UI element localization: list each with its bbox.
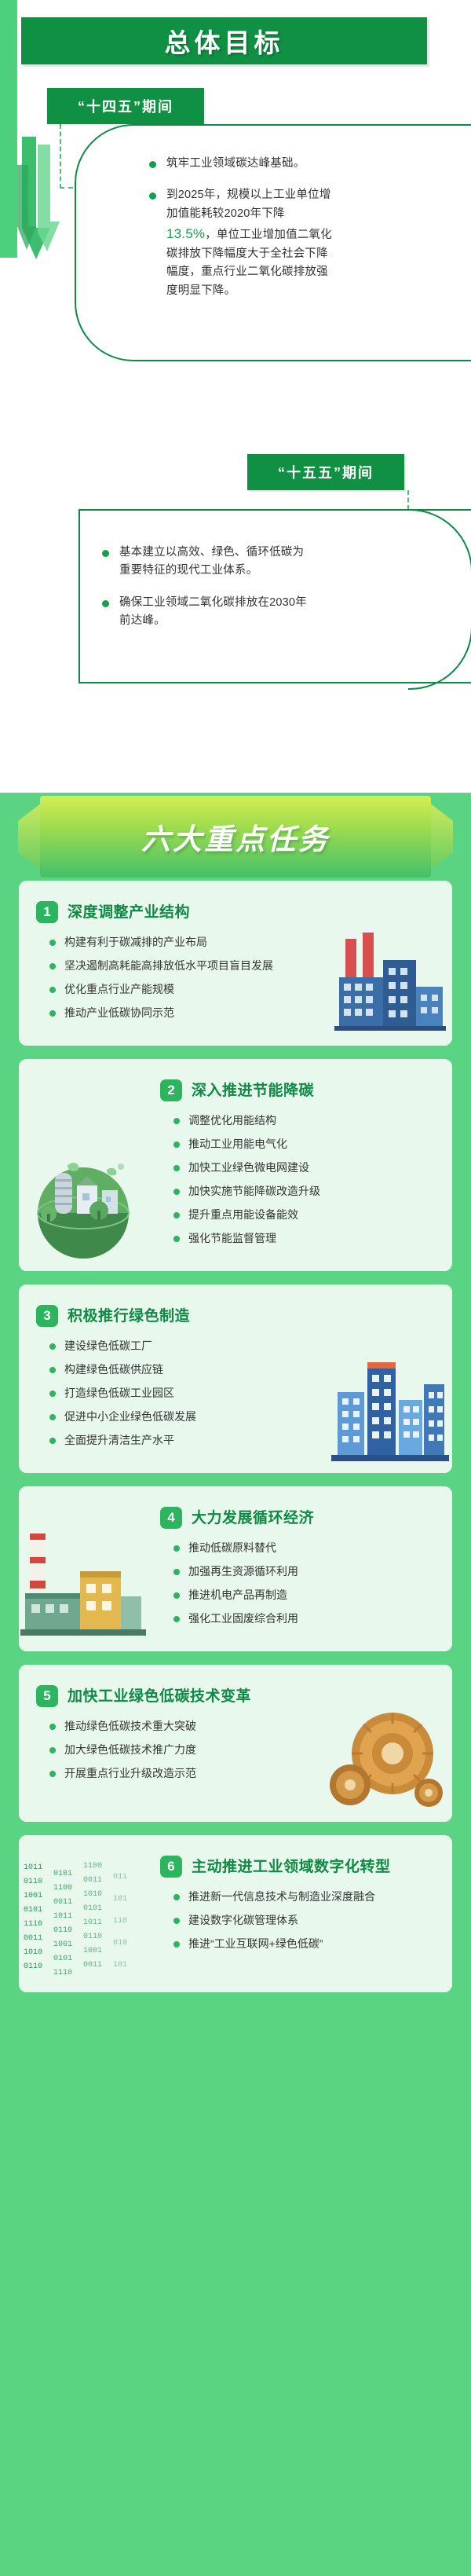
- svg-text:1110: 1110: [24, 1920, 42, 1929]
- task-bullet-item: 建设数字化碳管理体系: [173, 1912, 435, 1929]
- svg-text:1001: 1001: [53, 1940, 72, 1949]
- task-header: 3积极推行绿色制造: [36, 1305, 315, 1327]
- task-card-body: 3积极推行绿色制造建设绿色低碳工厂构建绿色低碳供应链打造绿色低碳工业园区促进中小…: [19, 1284, 452, 1473]
- goal-item: 基本建立以高效、绿色、循环低碳为重要特征的现代工业体系。: [102, 544, 314, 581]
- task-bullet-item: 打造绿色低碳工业园区: [49, 1385, 315, 1402]
- bullet-dot-icon: [49, 1391, 56, 1397]
- task-bullet-text: 调整优化用能结构: [188, 1112, 276, 1129]
- green-city-globe-icon: [20, 1138, 154, 1268]
- task-bullet-item: 推进新一代信息技术与制造业深度融合: [173, 1889, 435, 1905]
- svg-text:1011: 1011: [24, 1863, 42, 1872]
- task-bullet-item: 加快工业绿色微电网建设: [173, 1160, 435, 1176]
- svg-text:0011: 0011: [53, 1898, 72, 1907]
- goal-item: 到2025年，规模以上工业单位增加值能耗较2020年下降13.5%，单位工业增加…: [149, 186, 334, 300]
- section-overall-goals: 总体目标 “十四五”期间 筑牢工业领域碳达峰基础。: [0, 0, 471, 758]
- period-pill-label-2: “十五五”期间: [278, 462, 374, 482]
- task-bullet-text: 优化重点行业产能规模: [64, 981, 174, 998]
- overall-goals-title: 总体目标: [165, 22, 284, 60]
- task-bullet-item: 优化重点行业产能规模: [49, 981, 315, 998]
- task-bullet-item: 构建有利于碳减排的产业布局: [49, 934, 315, 951]
- svg-text:0011: 0011: [24, 1934, 42, 1943]
- bullet-dot-icon: [49, 963, 56, 969]
- task-title: 深入推进节能降碳: [192, 1079, 314, 1101]
- task-bullet-list: 调整优化用能结构推动工业用能电气化加快工业绿色微电网建设加快实施节能降碳改造升级…: [160, 1112, 435, 1247]
- goal-item-text: 筑牢工业领域碳达峰基础。: [166, 155, 305, 173]
- task-card[interactable]: 2深入推进节能降碳调整优化用能结构推动工业用能电气化加快工业绿色微电网建设加快实…: [19, 1059, 452, 1271]
- task-number-badge: 2: [160, 1079, 182, 1101]
- task-bullet-item: 强化节能监督管理: [173, 1230, 435, 1247]
- task-card[interactable]: 3积极推行绿色制造建设绿色低碳工厂构建绿色低碳供应链打造绿色低碳工业园区促进中小…: [19, 1284, 452, 1473]
- bullet-dot-icon: [173, 1165, 180, 1171]
- goal-item-text: 确保工业领域二氧化碳排放在2030年前达峰。: [119, 594, 314, 631]
- bullet-dot-icon: [102, 550, 109, 557]
- task-bullet-text: 全面提升清洁生产水平: [64, 1432, 174, 1449]
- svg-text:0101: 0101: [83, 1904, 102, 1913]
- period-pill-14th-five-year: “十四五”期间: [47, 88, 204, 124]
- task-bullet-item: 加大绿色低碳技术推广力度: [49, 1742, 315, 1758]
- bullet-dot-icon: [173, 1212, 180, 1218]
- bullet-dot-icon: [49, 940, 56, 946]
- bullet-dot-icon: [173, 1918, 180, 1924]
- task-bullet-text: 促进中小企业绿色低碳发展: [64, 1409, 196, 1425]
- task-bullet-item: 推动绿色低碳技术重大突破: [49, 1718, 315, 1735]
- task-card-body: 2深入推进节能降碳调整优化用能结构推动工业用能电气化加快工业绿色微电网建设加快实…: [19, 1059, 452, 1271]
- svg-text:101: 101: [113, 1895, 127, 1904]
- svg-text:0110: 0110: [24, 1878, 42, 1886]
- task-bullet-item: 提升重点用能设备能效: [173, 1207, 435, 1223]
- svg-text:1110: 1110: [53, 1969, 72, 1977]
- task-header: 2深入推进节能降碳: [160, 1079, 435, 1101]
- infographic-page: 总体目标 “十四五”期间 筑牢工业领域碳达峰基础。: [0, 0, 471, 2576]
- bullet-dot-icon: [49, 1343, 56, 1350]
- goal-item-text: 到2025年，规模以上工业单位增加值能耗较2020年下降13.5%，单位工业增加…: [166, 186, 334, 300]
- svg-text:0110: 0110: [83, 1933, 102, 1941]
- bullet-dot-icon: [49, 1771, 56, 1777]
- task-title: 主动推进工业领域数字化转型: [192, 1856, 391, 1877]
- task-bullet-text: 推动产业低碳协同示范: [64, 1005, 174, 1021]
- svg-text:0110: 0110: [24, 1962, 42, 1971]
- bullet-dot-icon: [49, 1724, 56, 1730]
- svg-text:1100: 1100: [83, 1862, 102, 1871]
- task-bullet-item: 调整优化用能结构: [173, 1112, 435, 1129]
- task-bullet-text: 构建绿色低碳供应链: [64, 1361, 163, 1378]
- task-bullet-text: 推进“工业互联网+绿色低碳”: [188, 1936, 323, 1952]
- digital-data-icon: 101101101001 010111100011 10100110 01011…: [20, 1860, 138, 1989]
- bullet-dot-icon: [149, 192, 156, 200]
- goal-item: 确保工业领域二氧化碳排放在2030年前达峰。: [102, 594, 314, 631]
- bullet-dot-icon: [173, 1894, 180, 1900]
- task-header: 6主动推进工业领域数字化转型: [160, 1856, 435, 1878]
- task-header: 1深度调整产业结构: [36, 901, 315, 923]
- task-card[interactable]: 5加快工业绿色低碳技术变革推动绿色低碳技术重大突破加大绿色低碳技术推广力度开展重…: [19, 1665, 452, 1822]
- task-title: 深度调整产业结构: [68, 901, 190, 922]
- task-bullet-text: 开展重点行业升级改造示范: [64, 1765, 196, 1782]
- svg-text:0101: 0101: [53, 1955, 72, 1963]
- task-card-body: 4大力发展循环经济推动低碳原料替代加强再生资源循环利用推进机电产品再制造强化工业…: [19, 1486, 452, 1651]
- task-bullet-text: 构建有利于碳减排的产业布局: [64, 934, 207, 951]
- task-bullet-text: 加大绿色低碳技术推广力度: [64, 1742, 196, 1758]
- bullet-dot-icon: [173, 1545, 180, 1552]
- task-bullet-item: 加强再生资源循环利用: [173, 1563, 435, 1580]
- bullet-dot-icon: [49, 1010, 56, 1017]
- goal-item-text: 基本建立以高效、绿色、循环低碳为重要特征的现代工业体系。: [119, 544, 314, 581]
- task-bullet-item: 推进机电产品再制造: [173, 1587, 435, 1603]
- left-accent-bar: [0, 0, 17, 258]
- svg-text:0011: 0011: [83, 1961, 102, 1970]
- goal-list-15th-five-year: 基本建立以高效、绿色、循环低碳为重要特征的现代工业体系。 确保工业领域二氧化碳排…: [102, 544, 314, 644]
- task-bullet-item: 推动工业用能电气化: [173, 1136, 435, 1152]
- svg-text:110: 110: [113, 1917, 127, 1926]
- svg-text:1010: 1010: [83, 1890, 102, 1899]
- factory-icon: [331, 921, 449, 1042]
- bullet-dot-icon: [173, 1569, 180, 1575]
- six-key-tasks-title: 六大重点任务: [141, 815, 330, 858]
- svg-text:0101: 0101: [24, 1906, 42, 1915]
- industrial-plant-icon: [20, 1523, 146, 1648]
- task-bullet-item: 建设绿色低碳工厂: [49, 1338, 315, 1354]
- task-bullet-item: 促进中小企业绿色低碳发展: [49, 1409, 315, 1425]
- task-bullet-text: 坚决遏制高耗能高排放低水平项目盲目发展: [64, 958, 273, 974]
- svg-text:1001: 1001: [24, 1892, 42, 1900]
- highlight-value: 13.5%: [166, 226, 205, 241]
- svg-text:0101: 0101: [53, 1870, 72, 1878]
- task-bullet-text: 加强再生资源循环利用: [188, 1563, 298, 1580]
- bullet-dot-icon: [49, 1414, 56, 1420]
- down-arrow-icon: [16, 134, 71, 271]
- task-bullet-text: 建设数字化碳管理体系: [188, 1912, 298, 1929]
- task-bullet-item: 推动产业低碳协同示范: [49, 1005, 315, 1021]
- task-bullet-text: 加快实施节能降碳改造升级: [188, 1183, 320, 1200]
- task-bullet-item: 全面提升清洁生产水平: [49, 1432, 315, 1449]
- task-header: 5加快工业绿色低碳技术变革: [36, 1685, 315, 1707]
- bullet-dot-icon: [173, 1941, 180, 1948]
- svg-text:0110: 0110: [53, 1926, 72, 1935]
- gears-icon: [323, 1697, 449, 1819]
- bullet-dot-icon: [173, 1189, 180, 1195]
- svg-text:1001: 1001: [83, 1947, 102, 1955]
- overall-goals-banner: 总体目标: [21, 17, 427, 64]
- task-card-body: 1深度调整产业结构构建有利于碳减排的产业布局坚决遏制高耗能高排放低水平项目盲目发…: [19, 881, 452, 1046]
- bullet-dot-icon: [49, 1367, 56, 1373]
- task-bullet-text: 建设绿色低碳工厂: [64, 1338, 152, 1354]
- section-six-key-tasks: 六大重点任务 1深度调整产业结构构建有利于碳减排的产业布局坚决遏制高耗能高排放低…: [0, 793, 471, 2576]
- svg-text:1010: 1010: [24, 1948, 42, 1957]
- task-card[interactable]: 4大力发展循环经济推动低碳原料替代加强再生资源循环利用推进机电产品再制造强化工业…: [19, 1486, 452, 1651]
- task-bullet-text: 强化节能监督管理: [188, 1230, 276, 1247]
- ribbon-body: 六大重点任务: [40, 796, 431, 878]
- task-bullet-item: 开展重点行业升级改造示范: [49, 1765, 315, 1782]
- svg-text:101: 101: [113, 1961, 127, 1970]
- task-bullet-item: 强化工业固废综合利用: [173, 1610, 435, 1627]
- svg-text:010: 010: [113, 1939, 127, 1948]
- task-bullet-list: 建设绿色低碳工厂构建绿色低碳供应链打造绿色低碳工业园区促进中小企业绿色低碳发展全…: [36, 1338, 315, 1449]
- period-pill-15th-five-year: “十五五”期间: [247, 454, 404, 490]
- svg-text:1011: 1011: [53, 1912, 72, 1921]
- task-card[interactable]: 6主动推进工业领域数字化转型推进新一代信息技术与制造业深度融合建设数字化碳管理体…: [19, 1835, 452, 1992]
- svg-text:1100: 1100: [53, 1884, 72, 1893]
- task-title: 大力发展循环经济: [192, 1507, 314, 1528]
- task-bullet-text: 推动低碳原料替代: [188, 1540, 276, 1556]
- bullet-dot-icon: [173, 1118, 180, 1124]
- period-pill-label-1: “十四五”期间: [78, 96, 173, 116]
- task-header: 4大力发展循环经济: [160, 1507, 435, 1529]
- task-bullet-list: 推动绿色低碳技术重大突破加大绿色低碳技术推广力度开展重点行业升级改造示范: [36, 1718, 315, 1782]
- task-bullet-text: 打造绿色低碳工业园区: [64, 1385, 174, 1402]
- six-key-tasks-banner: 六大重点任务: [16, 793, 455, 881]
- task-title: 加快工业绿色低碳技术变革: [68, 1685, 251, 1706]
- task-bullet-text: 推进新一代信息技术与制造业深度融合: [188, 1889, 375, 1905]
- task-bullet-list: 推动低碳原料替代加强再生资源循环利用推进机电产品再制造强化工业固废综合利用: [160, 1540, 435, 1627]
- task-card[interactable]: 1深度调整产业结构构建有利于碳减排的产业布局坚决遏制高耗能高排放低水平项目盲目发…: [19, 881, 452, 1046]
- task-bullet-item: 构建绿色低碳供应链: [49, 1361, 315, 1378]
- city-buildings-icon: [331, 1348, 449, 1470]
- task-bullet-text: 强化工业固废综合利用: [188, 1610, 298, 1627]
- task-bullet-list: 构建有利于碳减排的产业布局坚决遏制高耗能高排放低水平项目盲目发展优化重点行业产能…: [36, 934, 315, 1021]
- goal-item: 筑牢工业领域碳达峰基础。: [149, 155, 334, 173]
- bullet-dot-icon: [173, 1616, 180, 1622]
- bullet-dot-icon: [173, 1236, 180, 1242]
- task-number-badge: 5: [36, 1685, 58, 1707]
- task-bullet-text: 加快工业绿色微电网建设: [188, 1160, 309, 1176]
- bullet-dot-icon: [102, 600, 109, 607]
- svg-text:0011: 0011: [83, 1876, 102, 1885]
- task-number-badge: 4: [160, 1507, 182, 1529]
- task-bullet-item: 加快实施节能降碳改造升级: [173, 1183, 435, 1200]
- task-bullet-item: 推进“工业互联网+绿色低碳”: [173, 1936, 435, 1952]
- svg-text:1011: 1011: [83, 1918, 102, 1927]
- task-number-badge: 1: [36, 901, 58, 923]
- bullet-dot-icon: [49, 987, 56, 993]
- svg-text:011: 011: [113, 1873, 127, 1882]
- task-card-body: 6主动推进工业领域数字化转型推进新一代信息技术与制造业深度融合建设数字化碳管理体…: [19, 1835, 452, 1992]
- task-bullet-item: 坚决遏制高耗能高排放低水平项目盲目发展: [49, 958, 315, 974]
- task-card-body: 5加快工业绿色低碳技术变革推动绿色低碳技术重大突破加大绿色低碳技术推广力度开展重…: [19, 1665, 452, 1822]
- bullet-dot-icon: [149, 161, 156, 168]
- task-bullet-text: 推进机电产品再制造: [188, 1587, 287, 1603]
- bullet-dot-icon: [49, 1747, 56, 1753]
- task-number-badge: 6: [160, 1856, 182, 1878]
- task-bullet-list: 推进新一代信息技术与制造业深度融合建设数字化碳管理体系推进“工业互联网+绿色低碳…: [160, 1889, 435, 1952]
- task-number-badge: 3: [36, 1305, 58, 1327]
- task-bullet-item: 推动低碳原料替代: [173, 1540, 435, 1556]
- bullet-dot-icon: [49, 1438, 56, 1444]
- bullet-dot-icon: [173, 1592, 180, 1599]
- task-bullet-text: 提升重点用能设备能效: [188, 1207, 298, 1223]
- task-bullet-text: 推动工业用能电气化: [188, 1136, 287, 1152]
- bullet-dot-icon: [173, 1141, 180, 1148]
- task-title: 积极推行绿色制造: [68, 1305, 190, 1326]
- task-bullet-text: 推动绿色低碳技术重大突破: [64, 1718, 196, 1735]
- goal-list-14th-five-year: 筑牢工业领域碳达峰基础。 到2025年，规模以上工业单位增加值能耗较2020年下…: [149, 155, 334, 313]
- task-card-list: 1深度调整产业结构构建有利于碳减排的产业布局坚决遏制高耗能高排放低水平项目盲目发…: [0, 881, 471, 1992]
